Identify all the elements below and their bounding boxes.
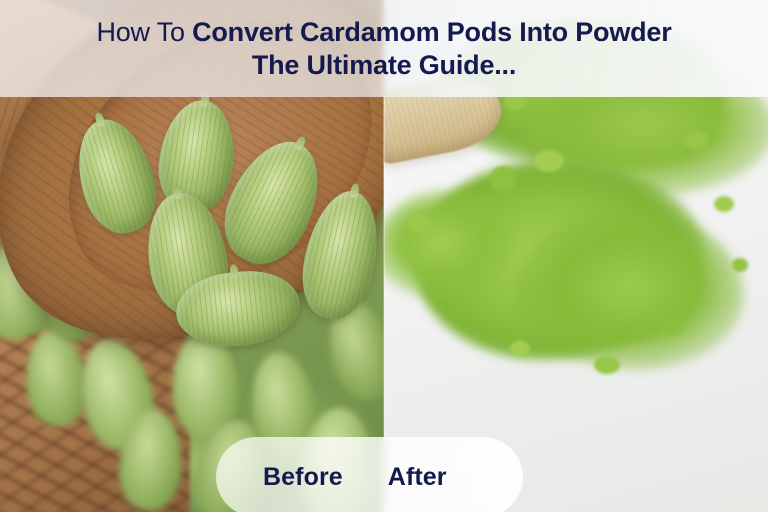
before-after-pill: Before After xyxy=(216,437,523,512)
powder-grain xyxy=(408,214,432,232)
after-label: After xyxy=(388,465,447,490)
powder-grain xyxy=(510,340,530,356)
powder-grain xyxy=(534,150,564,172)
powder-mound xyxy=(514,210,744,370)
page-title-line-2: The Ultimate Guide... xyxy=(252,49,516,82)
powder-grain xyxy=(732,258,748,272)
before-label: Before xyxy=(263,465,343,490)
title-overlay: How To Convert Cardamom Pods Into Powder… xyxy=(0,0,768,97)
page-title-line-1: How To Convert Cardamom Pods Into Powder xyxy=(96,16,671,49)
powder-grain xyxy=(714,196,734,212)
title-main: Convert Cardamom Pods Into Powder xyxy=(192,17,671,47)
powder-grain xyxy=(594,356,620,374)
powder-grain xyxy=(684,130,708,150)
blog-hero-banner: How To Convert Cardamom Pods Into Powder… xyxy=(0,0,768,512)
title-prefix: How To xyxy=(96,17,192,47)
powder-grain xyxy=(660,320,682,336)
powder-grain xyxy=(490,166,516,192)
